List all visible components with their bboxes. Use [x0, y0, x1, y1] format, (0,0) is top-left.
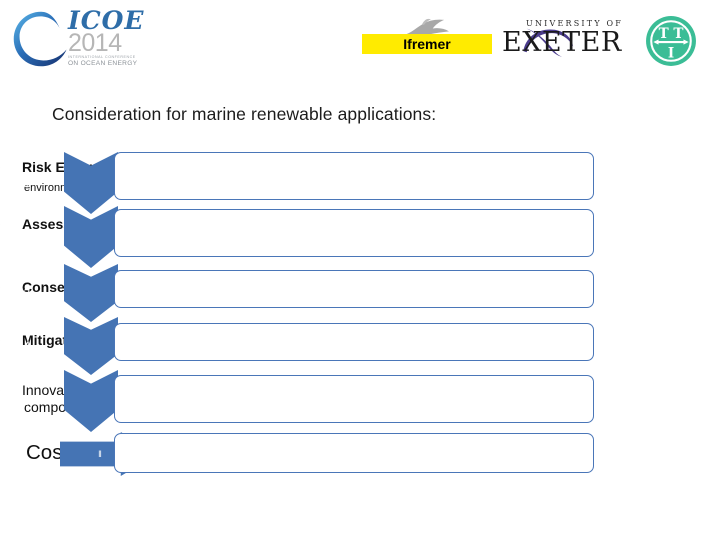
step-box-3[interactable]	[114, 270, 594, 308]
step-number-3: 3	[0, 288, 54, 300]
chevron-down-icon-4	[64, 317, 118, 375]
step-box-5[interactable]	[114, 375, 594, 423]
step-box-6[interactable]	[114, 433, 594, 473]
step-box-4[interactable]	[114, 323, 594, 361]
process-flow-list: 1 •Risk Evaluation(new technology, under…	[0, 0, 720, 540]
step-number-1: 1	[0, 178, 54, 190]
step-box-1[interactable]	[114, 152, 594, 200]
step-number-2: 2	[0, 232, 54, 244]
bullet-icon-1: •	[10, 159, 22, 176]
step-number-4: 4	[0, 341, 54, 353]
chevron-down-icon-5	[64, 370, 118, 432]
chevron-down-icon-3	[64, 264, 118, 322]
bullet-icon-6: •	[10, 441, 26, 467]
step-box-2[interactable]	[114, 209, 594, 257]
step-number-5: 5	[0, 396, 54, 408]
bullet-icon-2: •	[10, 216, 22, 233]
